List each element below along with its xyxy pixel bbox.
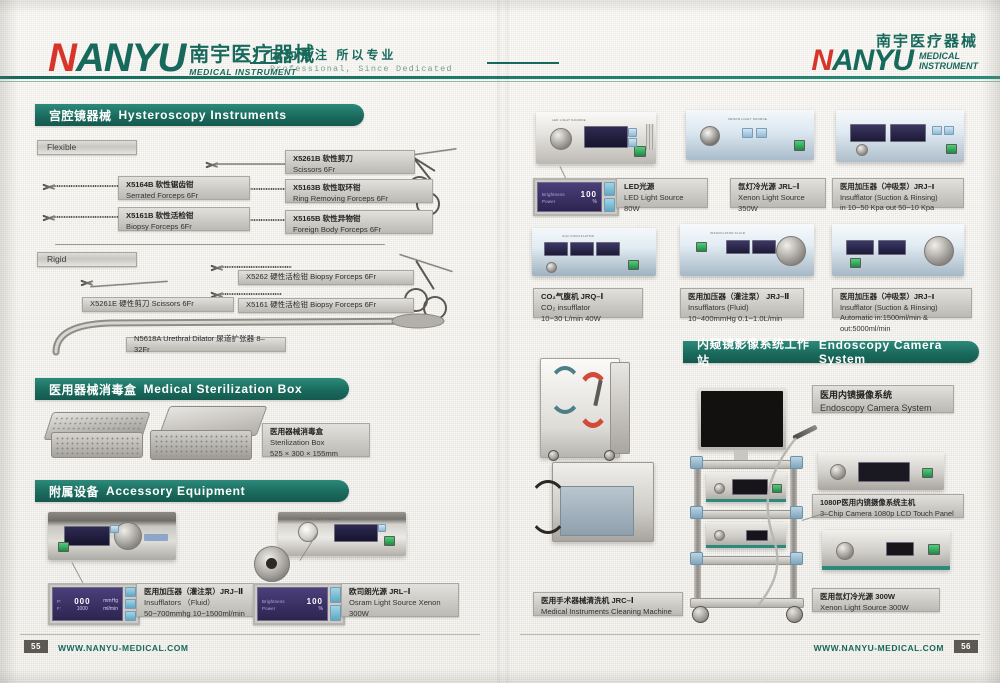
display-detail-led: Brightness 100 Power % xyxy=(533,178,619,216)
label-cleaning-machine: 医用手术器械清洗机 JRC–Ⅰ Medical Instruments Clea… xyxy=(533,592,683,616)
label-rigid-biopsy-x5262: X5262 硬性活检钳 Biopsy Forceps 6Fr xyxy=(238,270,414,285)
footer-url-left[interactable]: WWW.NANYU-MEDICAL.COM xyxy=(58,643,188,653)
display-detail-insufflator: P: 000 mmHg F: 1000 ml/min xyxy=(48,583,140,625)
page-edge-left xyxy=(0,0,18,683)
section-title-camera-en: Endoscopy Camera System xyxy=(819,338,979,366)
label-xenon-300w: 医用氙灯冷光源 300W Xenon Light Source 300W xyxy=(812,588,940,612)
page-edge-right xyxy=(982,0,1000,683)
section-title-cn: 宫腔镜器械 xyxy=(49,107,112,124)
device-xenon-300w xyxy=(822,530,950,570)
label-co2-insufflator: CO₂气腹机 JRQ–Ⅰ CO₂ insufflator 10~30 L/min… xyxy=(533,288,643,318)
tagline-dash-right xyxy=(487,62,559,64)
label-biopsy-forceps-flex: X5161B 软性活检钳 Biopsy Forceps 6Fr xyxy=(118,207,250,231)
logo-right-sub-line1: MEDICAL xyxy=(919,51,978,61)
label-insufflator-suction-rinsing: 医用加压器（冲吸泵）JRJ–Ⅰ Insufflator (Suction & R… xyxy=(832,178,964,208)
section-header-sterilization: 医用器械消毒盒 Medical Sterilization Box xyxy=(35,378,349,400)
rigid-biopsy-shaft-2 xyxy=(220,293,282,295)
label-ring-removing-forceps: X5163B 软性取环钳 Ring Removing Forceps 6Fr xyxy=(285,179,433,203)
label-led-light-source: LED光源 LED Light Source 80W xyxy=(616,178,708,208)
footer-rule-right xyxy=(520,634,980,635)
caster-upper-right xyxy=(604,450,615,461)
section-header-hysteroscopy: 宫腔镜器械 Hysteroscopy Instruments xyxy=(35,104,364,126)
rigid-biopsy-shaft-1 xyxy=(220,266,292,268)
logo-right-sub-line2: INSTRUMENT xyxy=(919,61,978,71)
label-xenon-light-source: 氙灯冷光源 JRL–Ⅰ Xenon Light Source 350W xyxy=(730,178,826,208)
section-header-accessory: 附属设备 Accessory Equipment xyxy=(35,480,349,502)
page-edge-bottom xyxy=(0,669,1000,683)
page-gutter xyxy=(497,0,509,683)
label-1080p-camera-host: 1080P医用内镜摄像系统主机 3–Chip Camera 1080p LCD … xyxy=(812,494,964,518)
sterilization-box-open xyxy=(150,406,260,462)
header-rule-thin xyxy=(0,81,1000,82)
label-insufflator-fluid: 医用加压器（灌注泵）JRJ–Ⅱ Insufflators （Fluid） 50~… xyxy=(136,583,256,617)
scope-cable xyxy=(700,430,830,610)
section-title-sterilization-cn: 医用器械消毒盒 xyxy=(49,381,137,398)
device-xenon-light-source: XENON LIGHT SOURCE xyxy=(686,110,814,160)
caster-upper-left xyxy=(548,450,559,461)
logo-right-letter-n: N xyxy=(811,44,832,77)
rigid-scissors-shaft xyxy=(90,280,168,287)
logo-right-letters: ANYU xyxy=(832,44,913,77)
device-insufflator-suction-auto xyxy=(832,224,964,276)
tagline-english: Professional, Since Dedicated xyxy=(270,64,485,74)
tagline-chinese: 因为专注 所以专业 xyxy=(270,46,485,63)
label-insufflator-fluid-right: 医用加压器（灌注泵） JRJ–Ⅱ Insufflators (Fluid) 10… xyxy=(680,288,804,318)
logo-right: 南宇医疗器械 NANYU MEDICAL INSTRUMENT xyxy=(811,34,978,75)
device-insufflator-fluid-right: INSUFFLATOR FLUID xyxy=(680,224,814,276)
label-urethral-dilator: N5618A Urethral Dilator 尿道扩张器 8–32Fr xyxy=(126,337,286,352)
tagline: 因为专注 所以专业 Professional, Since Dedicated xyxy=(270,46,485,74)
page-number-right: 56 xyxy=(954,640,978,653)
cleaning-machine-upper-side xyxy=(610,362,630,454)
page-edge-top xyxy=(0,0,1000,14)
logo-letters-anyu: ANYU xyxy=(76,36,185,80)
instrument-shaft-scissors xyxy=(215,163,295,165)
section-header-camera-system: 内窥镜影像系统工作站 Endoscopy Camera System xyxy=(683,341,979,363)
footer-url-right[interactable]: WWW.NANYU-MEDICAL.COM xyxy=(814,643,944,653)
cleaning-machine-hose xyxy=(528,480,568,534)
section-title-en: Hysteroscopy Instruments xyxy=(119,108,287,122)
footer-rule-left xyxy=(20,634,480,635)
section-title-accessory-en: Accessory Equipment xyxy=(106,484,245,498)
coiled-hose-red xyxy=(576,372,610,428)
page-number-left: 55 xyxy=(24,640,48,653)
label-serrated-forceps: X5164B 软性锯齿钳 Serrated Forceps 6Fr xyxy=(118,176,250,200)
display-detail-light-source: Brightness 100 Power % xyxy=(253,583,345,625)
tab-rigid[interactable]: Rigid xyxy=(37,252,137,267)
section-title-accessory-cn: 附属设备 xyxy=(49,483,99,500)
label-foreign-body-forceps: X5165B 软性异物钳 Foreign Body Forceps 6Fr xyxy=(285,210,433,234)
device-1080p-camera-host xyxy=(818,452,944,490)
cleaning-machine-chamber xyxy=(560,486,634,536)
section-title-sterilization-en: Medical Sterilization Box xyxy=(144,382,303,396)
device-co2-insufflator: CO2 INSUFFLATOR xyxy=(532,228,656,276)
light-guide-port xyxy=(266,558,277,569)
tab-flexible[interactable]: Flexible xyxy=(37,140,137,155)
catalog-page: NANYU 南宇医疗器械 MEDICAL INSTRUMENT 因为专注 所以专… xyxy=(0,0,1000,683)
sterilization-box-closed xyxy=(48,412,144,460)
section-title-camera-cn: 内窥镜影像系统工作站 xyxy=(697,335,812,369)
logo-letter-n: N xyxy=(48,36,76,80)
device-osram-light-source: OSRAM LIGHT SOURCE xyxy=(278,512,406,556)
device-led-light-source: LED LIGHT SOURCE xyxy=(536,112,656,164)
device-insufflator-suction xyxy=(836,110,964,162)
label-endoscopy-camera-system: 医用内镜摄像系统 Endoscopy Camera System xyxy=(812,385,954,413)
label-sterilization-box: 医用器械消毒盒 Sterilization Box 525 × 300 × 15… xyxy=(262,423,370,457)
label-osram-light-source: 欧司朗光源 JRL–Ⅰ Osram Light Source Xenon 300… xyxy=(341,583,459,617)
long-instrument-rod xyxy=(55,244,385,245)
label-insufflator-suction-auto: 医用加压器（冲吸泵）JRJ–Ⅰ Insufflator (Suction & R… xyxy=(832,288,972,318)
device-insufflator-fluid xyxy=(48,512,176,560)
label-scissors-flex: X5261B 软性剪刀 Scissors 6Fr xyxy=(285,150,415,174)
